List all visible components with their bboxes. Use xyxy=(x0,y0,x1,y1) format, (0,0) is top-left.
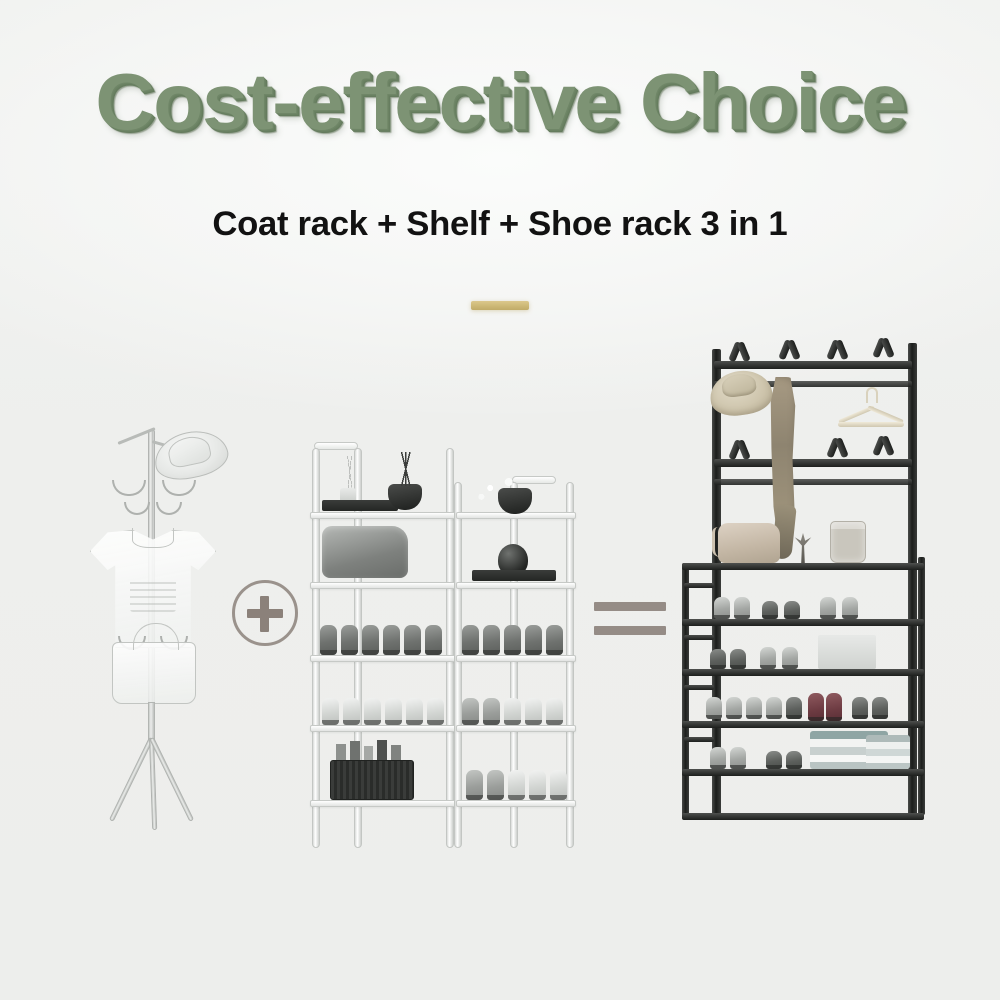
shoe xyxy=(385,698,402,725)
shoe xyxy=(872,697,888,719)
hook-rail-middle xyxy=(714,459,912,467)
shoe xyxy=(782,647,798,669)
product-equation-stage xyxy=(0,330,1000,850)
page-title: Cost-effective Choice xyxy=(95,62,905,142)
shoe xyxy=(762,601,778,619)
white-shelf-tower-right xyxy=(454,474,578,840)
divider-bar xyxy=(471,301,529,310)
shelf-frame-left xyxy=(682,563,689,819)
shelf-post xyxy=(312,448,320,848)
shoe xyxy=(362,625,379,655)
page-subtitle: Coat rack + Shelf + Shoe rack 3 in 1 xyxy=(213,205,788,244)
coat-rack-leg xyxy=(109,737,154,822)
hanger-bar xyxy=(838,422,904,427)
bag-on-coat-rack xyxy=(112,642,196,704)
rack-shelf-3 xyxy=(682,669,924,676)
plus-icon xyxy=(232,580,298,646)
rack-shelf-base xyxy=(682,813,924,820)
rack-shelf-1 xyxy=(682,563,924,570)
shoe xyxy=(734,597,750,619)
tshirt-collar xyxy=(132,528,174,548)
diffuser-reeds xyxy=(341,456,359,488)
product-poster: Cost-effective Choice Coat rack + Shelf … xyxy=(0,0,1000,1000)
shelf-brace xyxy=(684,583,714,588)
shoe xyxy=(525,625,542,655)
shoe xyxy=(341,625,358,655)
shoe xyxy=(343,698,360,725)
shelf-tier xyxy=(310,512,456,519)
rack-shelf-2 xyxy=(682,619,924,626)
shoe xyxy=(466,770,483,800)
shoe xyxy=(404,625,421,655)
shoe xyxy=(427,698,444,725)
clothes-hanger xyxy=(838,397,904,427)
shelf-brace xyxy=(684,635,714,640)
shoe xyxy=(508,770,525,800)
shoe xyxy=(730,649,746,669)
shoe xyxy=(483,625,500,655)
shelf-tier xyxy=(310,725,456,732)
white-shelf-illustration xyxy=(308,440,578,840)
shoe xyxy=(784,601,800,619)
hat-on-coat-rack xyxy=(150,425,232,485)
shoe xyxy=(364,698,381,725)
coat-rack-hook xyxy=(112,480,146,496)
shoe xyxy=(706,697,722,719)
figurine xyxy=(794,533,812,563)
shoe xyxy=(487,770,504,800)
shelf-tier xyxy=(310,582,456,589)
shelf-top-bar xyxy=(314,442,358,450)
shelf-tier xyxy=(456,655,576,662)
shoe xyxy=(462,625,479,655)
folded-towels xyxy=(866,735,910,769)
equals-icon xyxy=(594,598,666,642)
shoe xyxy=(322,698,339,725)
coat-rack-hook xyxy=(162,480,196,496)
headline-container: Cost-effective Choice xyxy=(0,62,1000,142)
books-stack xyxy=(322,500,398,511)
coat-rack-illustration xyxy=(78,410,228,830)
shelf-tier xyxy=(310,655,456,662)
shelf-tier xyxy=(456,582,576,589)
handbag-on-shelf xyxy=(322,526,408,578)
shoe xyxy=(406,698,423,725)
shoe xyxy=(786,751,802,769)
shelf-tier xyxy=(456,725,576,732)
shelf-post xyxy=(566,482,574,848)
shoe xyxy=(726,697,742,719)
shoe xyxy=(529,770,546,800)
shelf-tier xyxy=(456,800,576,807)
coat-rack-hook xyxy=(124,502,150,515)
heel-shoe xyxy=(826,693,842,721)
shoe xyxy=(820,597,836,619)
rack-shelf-5 xyxy=(682,769,924,776)
coat-rack-stem xyxy=(148,702,155,742)
equals-bar-top xyxy=(594,602,666,611)
shoe xyxy=(383,625,400,655)
shoe xyxy=(320,625,337,655)
tshirt-print xyxy=(130,578,176,612)
shoe xyxy=(746,697,762,719)
black-hall-tree-illustration xyxy=(670,335,930,835)
woven-basket xyxy=(330,760,414,800)
plant-pot xyxy=(388,484,422,510)
books-stack xyxy=(472,570,556,581)
shoe xyxy=(425,625,442,655)
shelf-post xyxy=(446,448,454,848)
shoe xyxy=(504,625,521,655)
shoe xyxy=(525,698,542,725)
shoe xyxy=(550,770,567,800)
subtitle-container: Coat rack + Shelf + Shoe rack 3 in 1 xyxy=(0,205,1000,244)
plant-pot xyxy=(498,488,532,514)
rack-shelf-4 xyxy=(682,721,924,728)
shoe xyxy=(786,697,802,719)
shoe xyxy=(714,597,730,619)
shoe xyxy=(710,649,726,669)
hanger-hook xyxy=(866,387,878,403)
white-shelf-tower-left xyxy=(308,440,458,840)
shoe xyxy=(730,747,746,769)
shoe xyxy=(842,597,858,619)
shoe xyxy=(710,747,726,769)
storage-jar xyxy=(830,521,866,563)
shoe xyxy=(766,697,782,719)
shoe xyxy=(483,698,500,725)
heel-shoe xyxy=(808,693,824,721)
shelf-brace xyxy=(684,685,714,690)
shoe xyxy=(760,647,776,669)
hook-rail-top xyxy=(714,361,912,369)
hook-rail-middle-lower xyxy=(714,479,912,485)
shelf-frame-right xyxy=(918,557,925,815)
plus-bar-vertical xyxy=(260,596,269,632)
shoe xyxy=(766,751,782,769)
shoe xyxy=(546,698,563,725)
shoe xyxy=(546,625,563,655)
shoe xyxy=(462,698,479,725)
shelf-board xyxy=(818,635,876,669)
shelf-tier xyxy=(310,800,456,807)
shoe xyxy=(852,697,868,719)
handbag-on-rack xyxy=(718,523,780,563)
coat-rack-hook xyxy=(156,502,182,515)
shoe xyxy=(504,698,521,725)
shelf-brace xyxy=(684,737,714,742)
shelf-post xyxy=(454,482,462,848)
equals-bar-bottom xyxy=(594,626,666,635)
plant-stems xyxy=(386,452,426,486)
